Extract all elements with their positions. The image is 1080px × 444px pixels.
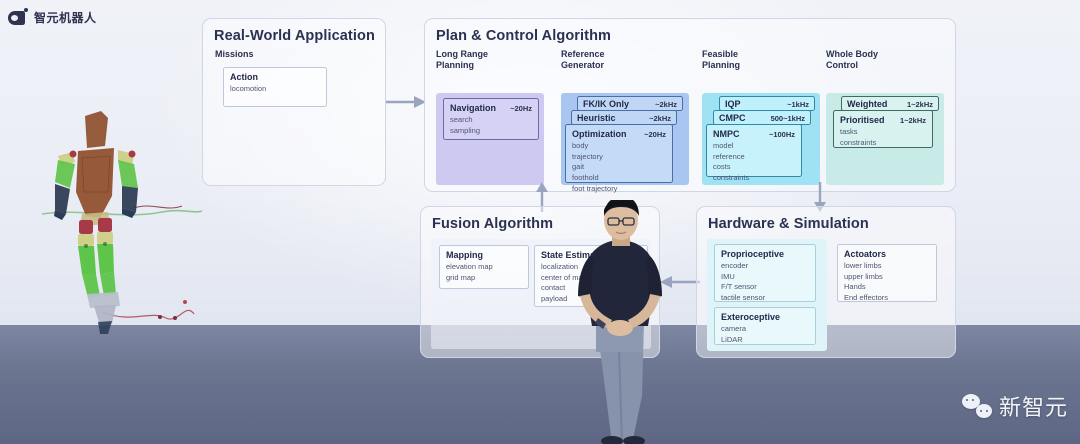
- panel-title-hardware-simulation: Hardware & Simulation: [708, 216, 869, 232]
- card-actoators[interactable]: Actoators lower limbs upper limbs Hands …: [837, 244, 937, 302]
- card-prioritised-name: Prioritised: [840, 115, 885, 125]
- arrow-realworld-to-plan: [386, 94, 426, 110]
- card-optimization-hz: ~20Hz: [644, 130, 666, 139]
- panel-title-plan-control: Plan & Control Algorithm: [436, 28, 611, 44]
- card-iqp-name: IQP: [725, 99, 741, 109]
- card-action-name: Action: [230, 72, 258, 82]
- card-navigation-hz: ~20Hz: [510, 104, 532, 113]
- card-proprioceptive-name: Proprioceptive: [721, 249, 784, 259]
- channel-watermark: 新智元: [962, 390, 1068, 422]
- card-nmpc-items: model reference costs constraints: [713, 141, 795, 184]
- panel-hardware-simulation: Hardware & Simulation Proprioceptive enc…: [696, 206, 956, 358]
- card-fk-ik-only-name: FK/IK Only: [583, 99, 629, 109]
- robot-kinematics-figure: [42, 96, 202, 346]
- card-weighted-name: Weighted: [847, 99, 887, 109]
- card-iqp[interactable]: IQP ~1kHz: [719, 96, 815, 111]
- card-mapping[interactable]: Mapping elevation map grid map: [439, 245, 529, 289]
- card-exteroceptive[interactable]: Exteroceptive camera LiDAR: [714, 307, 816, 345]
- card-heuristic[interactable]: Heuristic ~2kHz: [571, 110, 677, 125]
- card-iqp-hz: ~1kHz: [787, 100, 809, 109]
- card-prioritised[interactable]: Prioritised 1~2kHz tasks constraints: [833, 110, 933, 148]
- card-navigation-items: search sampling: [450, 115, 532, 136]
- card-exteroceptive-name: Exteroceptive: [721, 312, 780, 322]
- card-proprioceptive-items: encoder IMU F/T sensor tactile sensor: [721, 261, 809, 304]
- card-optimization[interactable]: Optimization ~20Hz body trajectory gait …: [565, 124, 673, 183]
- agibot-logo-icon: [8, 8, 28, 26]
- brand-name: 智元机器人: [34, 9, 97, 26]
- card-heuristic-name: Heuristic: [577, 113, 616, 123]
- card-nmpc[interactable]: NMPC ~100Hz model reference costs constr…: [706, 124, 802, 177]
- presentation-screenshot: 智元机器人: [0, 0, 1080, 444]
- card-mapping-items: elevation map grid map: [446, 262, 522, 283]
- card-cmpc[interactable]: CMPC 500~1kHz: [713, 110, 811, 125]
- column-title-whole-body-control: Whole Body Control: [826, 49, 878, 71]
- card-navigation[interactable]: Navigation ~20Hz search sampling: [443, 98, 539, 140]
- card-prioritised-items: tasks constraints: [840, 127, 926, 148]
- card-actoators-items: lower limbs upper limbs Hands End effect…: [844, 261, 930, 304]
- panel-title-real-world: Real-World Application: [214, 28, 375, 44]
- card-optimization-name: Optimization: [572, 129, 627, 139]
- card-cmpc-name: CMPC: [719, 113, 746, 123]
- panel-plan-control-algorithm: Plan & Control Algorithm Long Range Plan…: [424, 18, 956, 192]
- watermark-text: 新智元: [999, 390, 1068, 422]
- wechat-icon: [962, 394, 992, 418]
- label-missions: Missions: [215, 49, 254, 59]
- presenter-person: [566, 200, 676, 444]
- column-title-feasible-planning: Feasible Planning: [702, 49, 740, 71]
- card-heuristic-hz: ~2kHz: [649, 114, 671, 123]
- card-navigation-name: Navigation: [450, 103, 496, 113]
- brand-logo: 智元机器人: [8, 8, 97, 26]
- card-exteroceptive-items: camera LiDAR: [721, 324, 809, 345]
- card-actoators-name: Actoators: [844, 249, 886, 259]
- panel-real-world-application: Real-World Application Missions Action l…: [202, 18, 386, 186]
- card-action[interactable]: Action locomotion: [223, 67, 327, 107]
- card-prioritised-hz: 1~2kHz: [900, 116, 926, 125]
- card-cmpc-hz: 500~1kHz: [771, 114, 805, 123]
- panel-title-fusion-algorithm: Fusion Algorithm: [432, 216, 553, 232]
- column-title-long-range-planning: Long Range Planning: [436, 49, 488, 71]
- card-nmpc-name: NMPC: [713, 129, 740, 139]
- card-action-items: locomotion: [230, 84, 320, 95]
- card-mapping-name: Mapping: [446, 250, 483, 260]
- card-fk-ik-only[interactable]: FK/IK Only ~2kHz: [577, 96, 683, 111]
- card-proprioceptive[interactable]: Proprioceptive encoder IMU F/T sensor ta…: [714, 244, 816, 302]
- card-nmpc-hz: ~100Hz: [769, 130, 795, 139]
- card-optimization-items: body trajectory gait foothold foot traje…: [572, 141, 666, 194]
- card-weighted[interactable]: Weighted 1~2kHz: [841, 96, 939, 111]
- column-title-reference-generator: Reference Generator: [561, 49, 605, 71]
- card-fk-ik-only-hz: ~2kHz: [655, 100, 677, 109]
- card-weighted-hz: 1~2kHz: [907, 100, 933, 109]
